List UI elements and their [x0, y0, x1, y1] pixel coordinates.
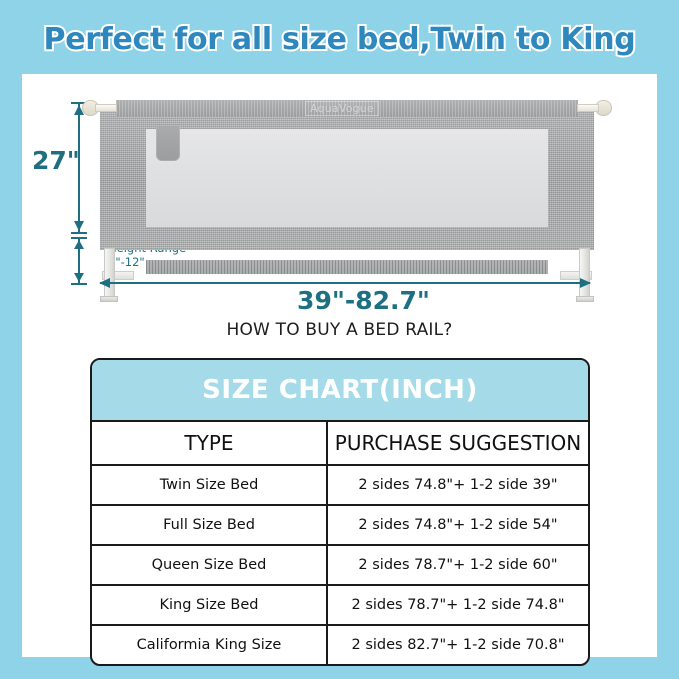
- arrow-up-icon: [74, 240, 84, 249]
- cell-type: Queen Size Bed: [92, 546, 328, 584]
- height-range-dimension-line: [78, 239, 80, 283]
- product-illustration: 27" Height Range 2"-12" AquaVogue: [22, 74, 657, 314]
- cell-suggestion: 2 sides 78.7"+ 1-2 side 60": [328, 546, 588, 584]
- banner-title: Perfect for all size bed,Twin to King: [0, 22, 679, 57]
- size-chart-title: SIZE CHART(INCH): [202, 375, 478, 405]
- bed-rail-graphic: AquaVogue: [100, 100, 594, 274]
- size-chart-table: SIZE CHART(INCH) TYPE PURCHASE SUGGESTIO…: [90, 358, 590, 666]
- table-row: King Size Bed 2 sides 78.7"+ 1-2 side 74…: [92, 586, 588, 626]
- rail-mesh-panel: [146, 129, 548, 227]
- rail-bottom-bar: [146, 260, 548, 274]
- table-row: Queen Size Bed 2 sides 78.7"+ 1-2 side 6…: [92, 546, 588, 586]
- arrow-down-icon: [74, 273, 84, 282]
- table-header-row: TYPE PURCHASE SUGGESTION: [92, 422, 588, 466]
- clamp-rod: [95, 104, 117, 112]
- content-card: 27" Height Range 2"-12" AquaVogue: [22, 74, 657, 657]
- width-dimension-line: [100, 282, 590, 284]
- arrow-down-icon: [74, 221, 84, 231]
- brand-logo: AquaVogue: [305, 101, 379, 116]
- table-row: Califormia King Size 2 sides 82.7"+ 1-2 …: [92, 626, 588, 664]
- cell-type: Full Size Bed: [92, 506, 328, 544]
- column-header-suggestion: PURCHASE SUGGESTION: [328, 422, 588, 464]
- cell-type: Califormia King Size: [92, 626, 328, 664]
- cell-suggestion: 2 sides 82.7"+ 1-2 side 70.8": [328, 626, 588, 664]
- clamp-right: [578, 100, 612, 116]
- rail-side-pocket: [156, 125, 180, 161]
- column-header-type: TYPE: [92, 422, 328, 464]
- clamp-left: [82, 100, 116, 116]
- cell-suggestion: 2 sides 74.8"+ 1-2 side 54": [328, 506, 588, 544]
- cell-type: Twin Size Bed: [92, 466, 328, 504]
- height-dimension-label: 27": [32, 146, 80, 175]
- cell-suggestion: 2 sides 78.7"+ 1-2 side 74.8": [328, 586, 588, 624]
- clamp-rod: [577, 104, 599, 112]
- cell-suggestion: 2 sides 74.8"+ 1-2 side 39": [328, 466, 588, 504]
- size-chart-header: SIZE CHART(INCH): [92, 360, 588, 422]
- cell-type: King Size Bed: [92, 586, 328, 624]
- table-row: Full Size Bed 2 sides 74.8"+ 1-2 side 54…: [92, 506, 588, 546]
- how-to-buy-heading: HOW TO BUY A BED RAIL?: [22, 320, 657, 340]
- width-dimension-label: 39"-82.7": [22, 286, 657, 315]
- table-row: Twin Size Bed 2 sides 74.8"+ 1-2 side 39…: [92, 466, 588, 506]
